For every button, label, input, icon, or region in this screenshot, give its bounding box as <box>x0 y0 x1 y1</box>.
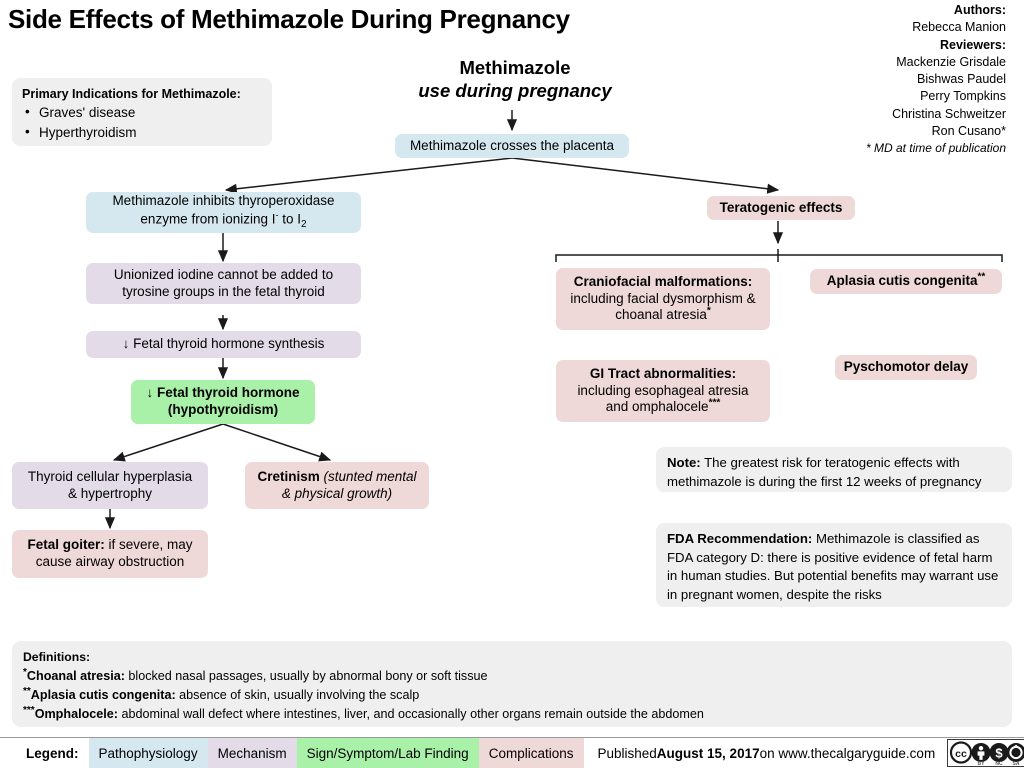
node-psychomotor-delay: Pyschomotor delay <box>835 355 977 380</box>
svg-text:SA: SA <box>1013 761 1020 767</box>
node-line-1: Thyroid cellular hyperplasia <box>28 469 192 484</box>
node-line-2b: to I <box>278 212 301 227</box>
definition-text: abdominal wall defect where intestines, … <box>118 707 704 721</box>
node-thyroid-hyperplasia: Thyroid cellular hyperplasia & hypertrop… <box>12 462 208 509</box>
subject-line-2: use during pregnancy <box>390 79 640 102</box>
node-label: Teratogenic effects <box>715 200 847 217</box>
author-name: Rebecca Manion <box>866 19 1006 36</box>
authors-footnote: * MD at time of publication <box>866 140 1006 157</box>
node-fetal-hypothyroidism: ↓ Fetal thyroid hormone (hypothyroidism) <box>131 380 315 424</box>
reviewer-name: Perry Tompkins <box>866 88 1006 105</box>
node-label: Methimazole inhibits thyroperoxidase enz… <box>94 193 353 231</box>
footnote-marker: *** <box>709 398 721 409</box>
authors-block: Authors: Rebecca Manion Reviewers: Macke… <box>866 2 1006 158</box>
node-line-1: if severe, may <box>105 537 193 552</box>
node-term: Craniofacial malformations: <box>574 274 753 289</box>
node-line-2: & physical growth) <box>282 486 392 501</box>
note-box: Note: The greatest risk for teratogenic … <box>656 447 1012 492</box>
node-line-2: cause airway obstruction <box>36 554 185 569</box>
node-label: Aplasia cutis congenita** <box>818 273 994 290</box>
legend-label: Legend: <box>0 738 89 768</box>
legend-chip-sign-symptom-lab-finding[interactable]: Sign/Symptom/Lab Finding <box>297 738 479 768</box>
node-line-2: including facial dysmorphism & <box>570 291 755 306</box>
node-line-3: and omphalocele <box>606 399 709 414</box>
arrow-placenta-to-teratogenic <box>512 158 778 190</box>
legend-chip-complications[interactable]: Complications <box>479 738 584 768</box>
reviewer-name: Ron Cusano* <box>866 123 1006 140</box>
list-item: Graves' disease <box>39 103 262 123</box>
node-line-2: (hypothyroidism) <box>168 402 278 417</box>
definitions-box: Definitions: *Choanal atresia: blocked n… <box>12 641 1012 727</box>
node-label: Thyroid cellular hyperplasia & hypertrop… <box>20 469 200 502</box>
svg-text:$: $ <box>996 746 1004 761</box>
diagram-subject-heading: Methimazole use during pregnancy <box>390 56 640 103</box>
definition-term: Aplasia cutis congenita: <box>31 688 176 702</box>
node-label: Cretinism (stunted mental & physical gro… <box>253 469 421 502</box>
node-line-2: including esophageal atresia <box>577 383 748 398</box>
node-label: ↓ Fetal thyroid hormone synthesis <box>94 336 353 353</box>
primary-indications-title: Primary Indications for Methimazole: <box>22 85 262 103</box>
reviewer-name: Christina Schweitzer <box>866 106 1006 123</box>
legend-chip-mechanism[interactable]: Mechanism <box>208 738 297 768</box>
definition-term: Choanal atresia: <box>27 669 125 683</box>
published-prefix: Published <box>598 746 657 761</box>
node-label: Pyschomotor delay <box>843 359 969 376</box>
node-label: Methimazole crosses the placenta <box>403 138 621 155</box>
node-line-1: (stunted mental <box>320 469 417 484</box>
node-line-1: Unionized iodine cannot be added to <box>114 267 333 282</box>
publication-info: Published August 15, 2017 on www.thecalg… <box>584 738 948 768</box>
definition-entry: *Choanal atresia: blocked nasal passages… <box>23 667 1001 686</box>
primary-indications-box: Primary Indications for Methimazole: Gra… <box>12 78 272 146</box>
node-label: ↓ Fetal thyroid hormone (hypothyroidism) <box>139 385 307 418</box>
published-date: August 15, 2017 <box>657 746 760 761</box>
node-crosses-placenta: Methimazole crosses the placenta <box>395 134 629 158</box>
arrow-hypo-to-cretinism <box>223 424 330 460</box>
definitions-title: Definitions: <box>23 648 1001 667</box>
node-craniofacial-malformations: Craniofacial malformations: including fa… <box>556 268 770 330</box>
node-label: Fetal goiter: if severe, may cause airwa… <box>20 537 200 570</box>
legend-chip-label: Complications <box>489 746 574 761</box>
legend-chip-pathophysiology[interactable]: Pathophysiology <box>89 738 208 768</box>
footnote-marker: *** <box>23 705 35 716</box>
node-decreased-synthesis: ↓ Fetal thyroid hormone synthesis <box>86 331 361 358</box>
definition-entry: **Aplasia cutis congenita: absence of sk… <box>23 686 1001 705</box>
legend-chip-label: Mechanism <box>218 746 287 761</box>
iodine-subscript: 2 <box>301 219 307 230</box>
arrow-placenta-to-inhibits <box>226 158 512 190</box>
node-cretinism: Cretinism (stunted mental & physical gro… <box>245 462 429 509</box>
published-site: on www.thecalgaryguide.com <box>760 746 936 761</box>
node-teratogenic-effects: Teratogenic effects <box>707 196 855 220</box>
node-label: GI Tract abnormalities: including esopha… <box>564 366 762 416</box>
fda-label: FDA Recommendation: <box>667 531 812 546</box>
node-term: Aplasia cutis congenita <box>827 273 978 288</box>
node-line-1: ↓ Fetal thyroid hormone <box>146 385 299 400</box>
node-term: Cretinism <box>257 469 319 484</box>
node-label: Unionized iodine cannot be added to tyro… <box>94 267 353 300</box>
node-gi-tract-abnormalities: GI Tract abnormalities: including esopha… <box>556 360 770 422</box>
node-line-2: & hypertrophy <box>68 486 152 501</box>
definition-entry: ***Omphalocele: abdominal wall defect wh… <box>23 705 1001 724</box>
reviewer-name: Bishwas Paudel <box>866 71 1006 88</box>
node-fetal-goiter: Fetal goiter: if severe, may cause airwa… <box>12 530 208 578</box>
bracket-teratogenic-children <box>556 255 1002 262</box>
subject-line-1: Methimazole <box>390 56 640 79</box>
list-item: Hyperthyroidism <box>39 123 262 143</box>
primary-indications-list: Graves' disease Hyperthyroidism <box>22 103 262 142</box>
footnote-marker: * <box>707 306 711 317</box>
definition-text: blocked nasal passages, usually by abnor… <box>125 669 488 683</box>
svg-text:NC: NC <box>996 761 1004 767</box>
page-title: Side Effects of Methimazole During Pregn… <box>8 4 570 35</box>
svg-text:BY: BY <box>978 761 986 767</box>
node-unionized-iodine: Unionized iodine cannot be added to tyro… <box>86 263 361 304</box>
cc-license-badge[interactable]: cc $ BY NC SA <box>947 738 1024 768</box>
reviewer-name: Mackenzie Grisdale <box>866 54 1006 71</box>
definition-term: Omphalocele: <box>35 707 118 721</box>
authors-label: Authors: <box>866 2 1006 19</box>
creative-commons-icon: cc $ BY NC SA <box>947 739 1024 767</box>
node-line-2: tyrosine groups in the fetal thyroid <box>122 284 325 299</box>
legend-bar: Legend: Pathophysiology Mechanism Sign/S… <box>0 737 1024 768</box>
node-line-1: Methimazole inhibits thyroperoxidase <box>112 193 334 208</box>
legend-chip-label: Pathophysiology <box>99 746 198 761</box>
node-term: GI Tract abnormalities: <box>590 366 736 381</box>
legend-chip-label: Sign/Symptom/Lab Finding <box>307 746 469 761</box>
node-line-3: choanal atresia <box>615 307 707 322</box>
node-line-2a: enzyme from ionizing I <box>140 212 275 227</box>
node-methimazole-inhibits-tpo: Methimazole inhibits thyroperoxidase enz… <box>86 192 361 233</box>
arrow-hypo-to-hyperplasia <box>114 424 223 460</box>
footnote-marker: ** <box>23 686 31 697</box>
node-term: Fetal goiter: <box>27 537 104 552</box>
footnote-marker: ** <box>978 272 986 283</box>
note-text: The greatest risk for teratogenic effect… <box>667 455 981 489</box>
fda-recommendation-box: FDA Recommendation: Methimazole is class… <box>656 523 1012 607</box>
svg-text:cc: cc <box>955 748 967 760</box>
reviewers-label: Reviewers: <box>866 37 1006 54</box>
node-aplasia-cutis-congenita: Aplasia cutis congenita** <box>810 269 1002 294</box>
definition-text: absence of skin, usually involving the s… <box>176 688 420 702</box>
node-label: Craniofacial malformations: including fa… <box>564 274 762 324</box>
note-label: Note: <box>667 455 701 470</box>
